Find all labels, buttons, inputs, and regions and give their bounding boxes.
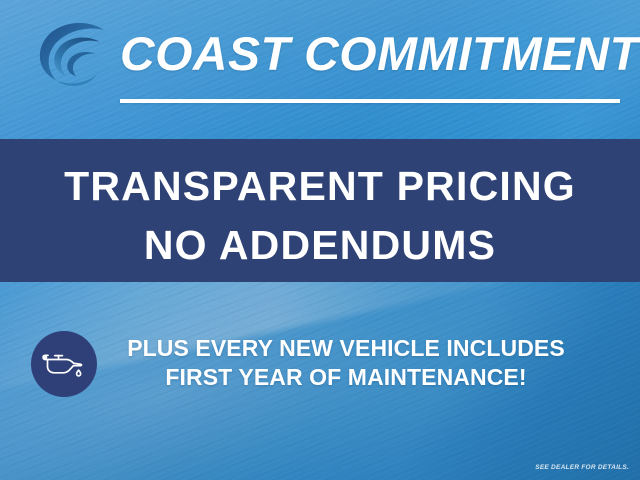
page-title: COAST COMMITMENT: [120, 22, 635, 84]
disclaimer-text: SEE DEALER FOR DETAILS.: [535, 464, 629, 471]
oil-can-icon-badge: [31, 331, 97, 397]
promo-text-block: PLUS EVERY NEW VEHICLE INCLUDES FIRST YE…: [108, 334, 584, 392]
headline-line-2: NO ADDENDUMS: [0, 225, 640, 266]
coast-wave-swirl-logo-icon: [34, 20, 112, 90]
oil-can-icon: [42, 349, 86, 379]
headline-band: TRANSPARENT PRICING NO ADDENDUMS: [0, 139, 640, 282]
banner-header: COAST COMMITMENT: [0, 0, 640, 128]
promo-row: PLUS EVERY NEW VEHICLE INCLUDES FIRST YE…: [0, 330, 640, 402]
promo-line-1: PLUS EVERY NEW VEHICLE INCLUDES: [108, 334, 584, 363]
promo-line-2: FIRST YEAR OF MAINTENANCE!: [108, 363, 584, 392]
header-divider: [120, 99, 620, 103]
coast-commitment-banner: COAST COMMITMENT TRANSPARENT PRICING NO …: [0, 0, 640, 480]
headline-line-1: TRANSPARENT PRICING: [0, 166, 640, 207]
